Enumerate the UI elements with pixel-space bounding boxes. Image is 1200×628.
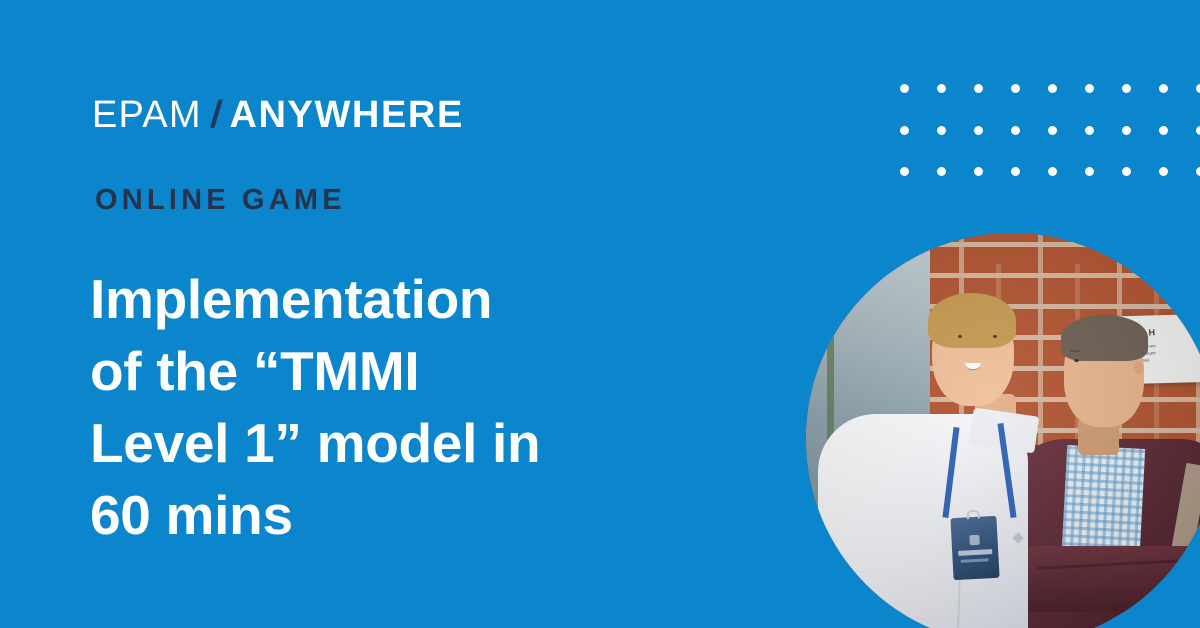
grid-dot bbox=[1085, 84, 1094, 93]
badge-subtitle-line bbox=[961, 559, 989, 563]
grid-dot bbox=[1048, 126, 1057, 135]
dot-grid-decoration bbox=[900, 84, 1200, 194]
grid-dot bbox=[1196, 167, 1200, 176]
grid-dot bbox=[900, 84, 909, 93]
epam-anywhere-logo[interactable]: EPAM / ANYWHERE bbox=[92, 96, 464, 134]
person-left-hair bbox=[928, 293, 1017, 349]
grid-dot bbox=[937, 84, 946, 93]
grid-dot bbox=[1196, 84, 1200, 93]
grid-dot bbox=[1159, 84, 1168, 93]
grid-dot bbox=[1122, 167, 1131, 176]
dot-grid-row bbox=[900, 126, 1200, 168]
headline-line: Level 1” model in bbox=[90, 407, 650, 479]
grid-dot bbox=[1122, 126, 1131, 135]
logo-product-text: ANYWHERE bbox=[229, 96, 463, 134]
eyebrow-label: ONLINE GAME bbox=[95, 186, 346, 215]
headline-line: Implementation bbox=[90, 263, 650, 335]
grid-dot bbox=[974, 126, 983, 135]
grid-dot bbox=[900, 167, 909, 176]
person-right-hair bbox=[1061, 315, 1148, 360]
person-right-ear bbox=[1134, 361, 1143, 374]
person-right-eye bbox=[1074, 359, 1079, 362]
grid-dot bbox=[1159, 126, 1168, 135]
dot-grid-row bbox=[900, 167, 1200, 194]
grid-dot bbox=[1159, 167, 1168, 176]
photo-content: HTP_H 1) Размещение 2) Регистрация 3) Вы… bbox=[806, 233, 1200, 628]
hero-photo: HTP_H 1) Размещение 2) Регистрация 3) Вы… bbox=[806, 233, 1200, 628]
logo-separator-icon: / bbox=[209, 96, 225, 134]
grid-dot bbox=[1085, 126, 1094, 135]
grid-dot bbox=[1122, 84, 1131, 93]
dot-grid-row bbox=[900, 84, 1200, 126]
grid-dot bbox=[937, 126, 946, 135]
grid-dot bbox=[1011, 167, 1020, 176]
person-right-folded-arms bbox=[1008, 546, 1200, 612]
grid-dot bbox=[1011, 126, 1020, 135]
badge-logo-icon bbox=[970, 535, 981, 546]
badge-clip-icon bbox=[967, 510, 980, 520]
grid-dot bbox=[974, 84, 983, 93]
grid-dot bbox=[1048, 84, 1057, 93]
headline-line: 60 mins bbox=[90, 479, 650, 551]
grid-dot bbox=[1196, 126, 1200, 135]
promo-banner: EPAM / ANYWHERE ONLINE GAME Implementati… bbox=[0, 0, 1200, 628]
grid-dot bbox=[1085, 167, 1094, 176]
grid-dot bbox=[900, 126, 909, 135]
headline-line: of the “TMMI bbox=[90, 335, 650, 407]
grid-dot bbox=[974, 167, 983, 176]
badge-name-line bbox=[958, 549, 992, 556]
grid-dot bbox=[1048, 167, 1057, 176]
grid-dot bbox=[937, 167, 946, 176]
grid-dot bbox=[1011, 84, 1020, 93]
logo-brand-text: EPAM bbox=[92, 96, 202, 134]
page-title: Implementation of the “TMMI Level 1” mod… bbox=[90, 263, 650, 551]
conference-badge bbox=[951, 516, 1000, 580]
